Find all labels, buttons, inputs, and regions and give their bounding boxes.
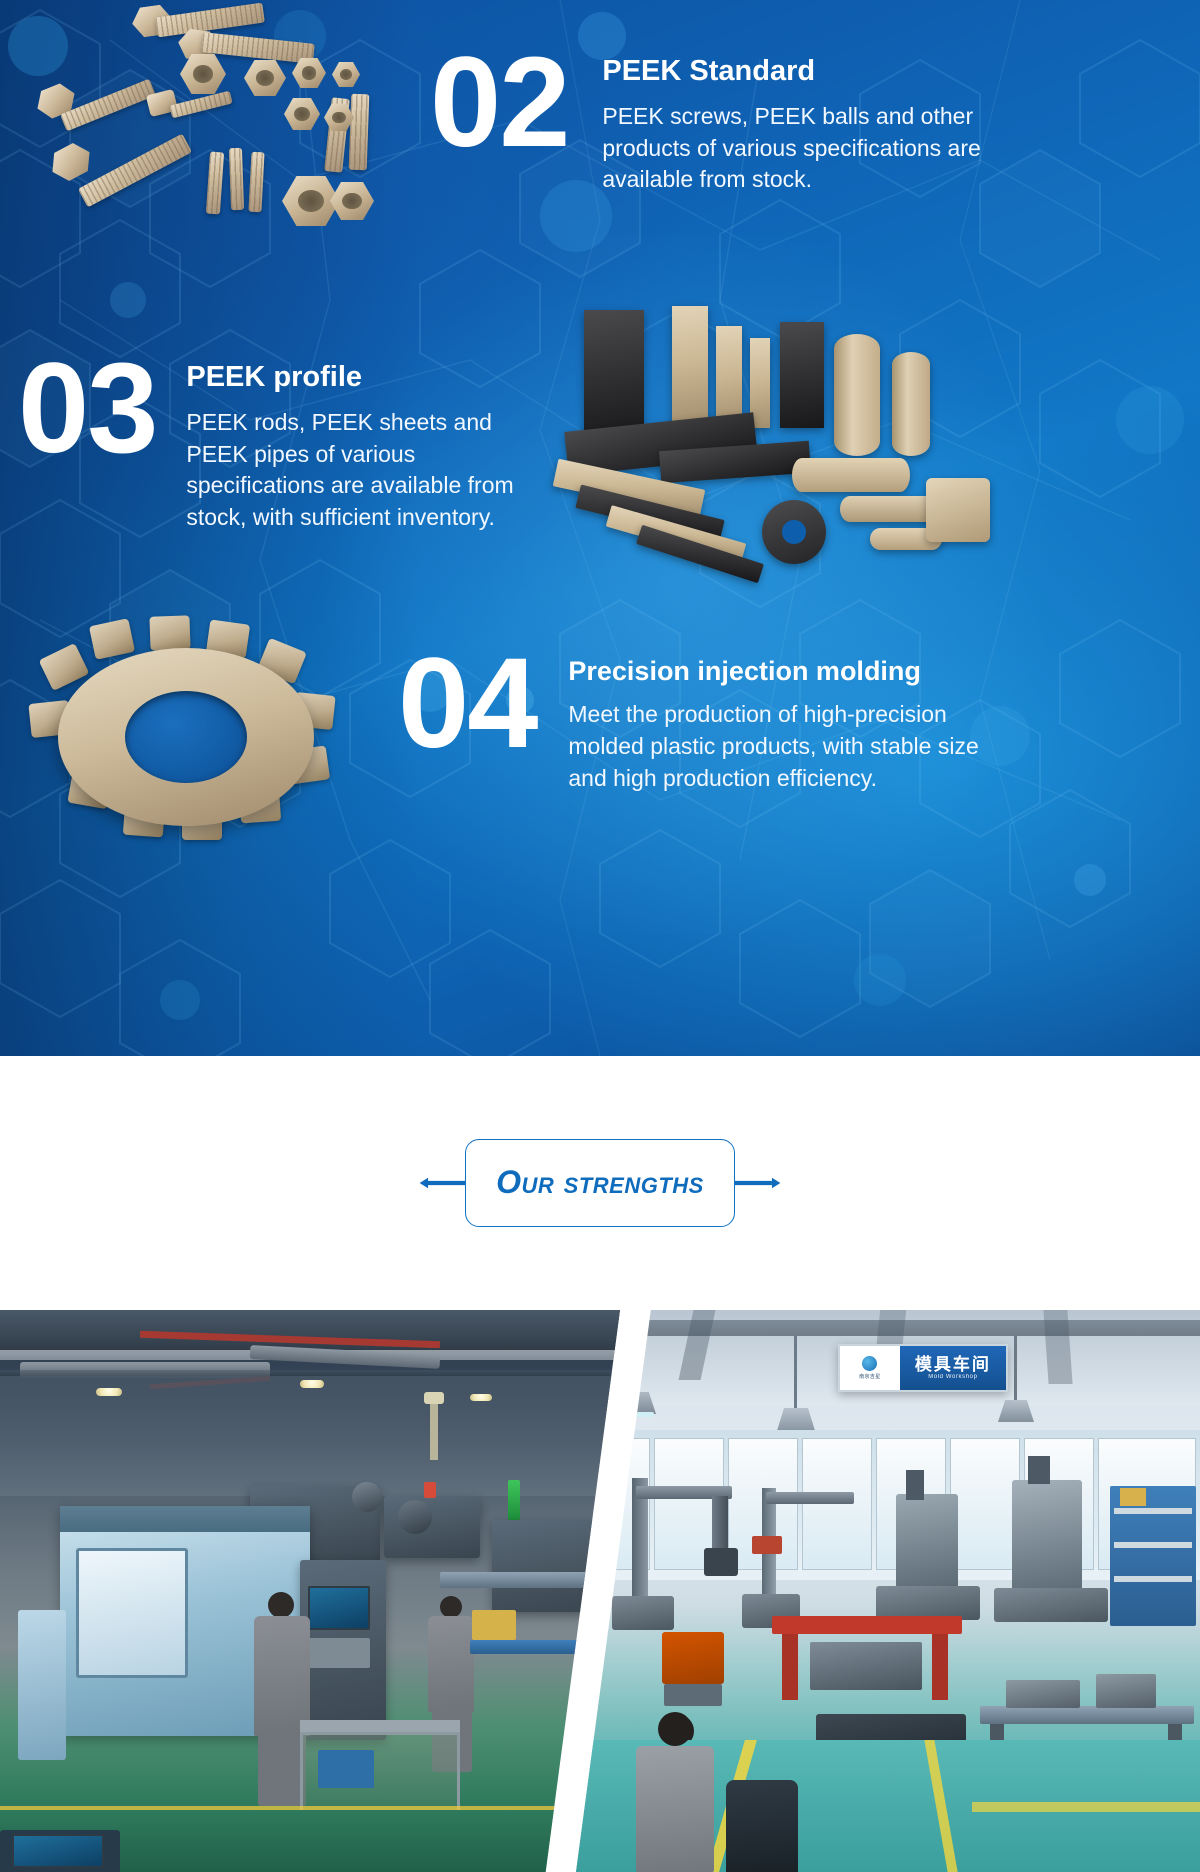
product-feature-page: 02 PEEK Standard PEEK screws, PEEK balls… (0, 0, 1200, 1872)
sign-company-logo: 南京吉星 (840, 1346, 900, 1390)
hero-glow (278, 234, 1098, 934)
hero-section: 02 PEEK Standard PEEK screws, PEEK balls… (0, 0, 1200, 1056)
feature-title-03: PEEK profile (186, 360, 556, 395)
cnc-machining-workshop-photo[interactable] (0, 1310, 620, 1872)
sign-title-chinese: 模具车间 (915, 1356, 991, 1374)
sign-company-name: 南京吉星 (859, 1373, 881, 1380)
factory-photo-gallery: 南京吉星 模具车间 Mold Workshop (0, 1310, 1200, 1872)
peek-screws-image (28, 0, 428, 260)
feature-title-02: PEEK Standard (602, 54, 992, 89)
peek-rods-sheets-image (540, 296, 1000, 596)
our-strengths-label: Our strengths (465, 1139, 735, 1227)
feature-title-04: Precision injection molding (568, 655, 988, 687)
our-strengths-band: Our strengths (0, 1056, 1200, 1310)
mold-workshop-sign: 南京吉星 模具车间 Mold Workshop (838, 1344, 1008, 1392)
peek-molded-ring-image (30, 620, 350, 860)
feature-description-04: Meet the production of high-precision mo… (568, 699, 988, 794)
mold-workshop-photo[interactable]: 南京吉星 模具车间 Mold Workshop (576, 1310, 1200, 1872)
feature-block-03: 03 PEEK profile PEEK rods, PEEK sheets a… (18, 350, 556, 534)
feature-block-04: 04 Precision injection molding Meet the … (398, 645, 988, 795)
feature-number-03: 03 (18, 350, 156, 468)
feature-number-02: 02 (430, 44, 568, 162)
sign-title-english: Mold Workshop (928, 1374, 977, 1380)
feature-block-02: 02 PEEK Standard PEEK screws, PEEK balls… (430, 44, 992, 196)
feature-number-04: 04 (398, 645, 536, 763)
feature-description-02: PEEK screws, PEEK balls and other produc… (602, 101, 992, 196)
sign-logo-mark-icon (862, 1356, 877, 1371)
feature-description-03: PEEK rods, PEEK sheets and PEEK pipes of… (186, 407, 556, 534)
